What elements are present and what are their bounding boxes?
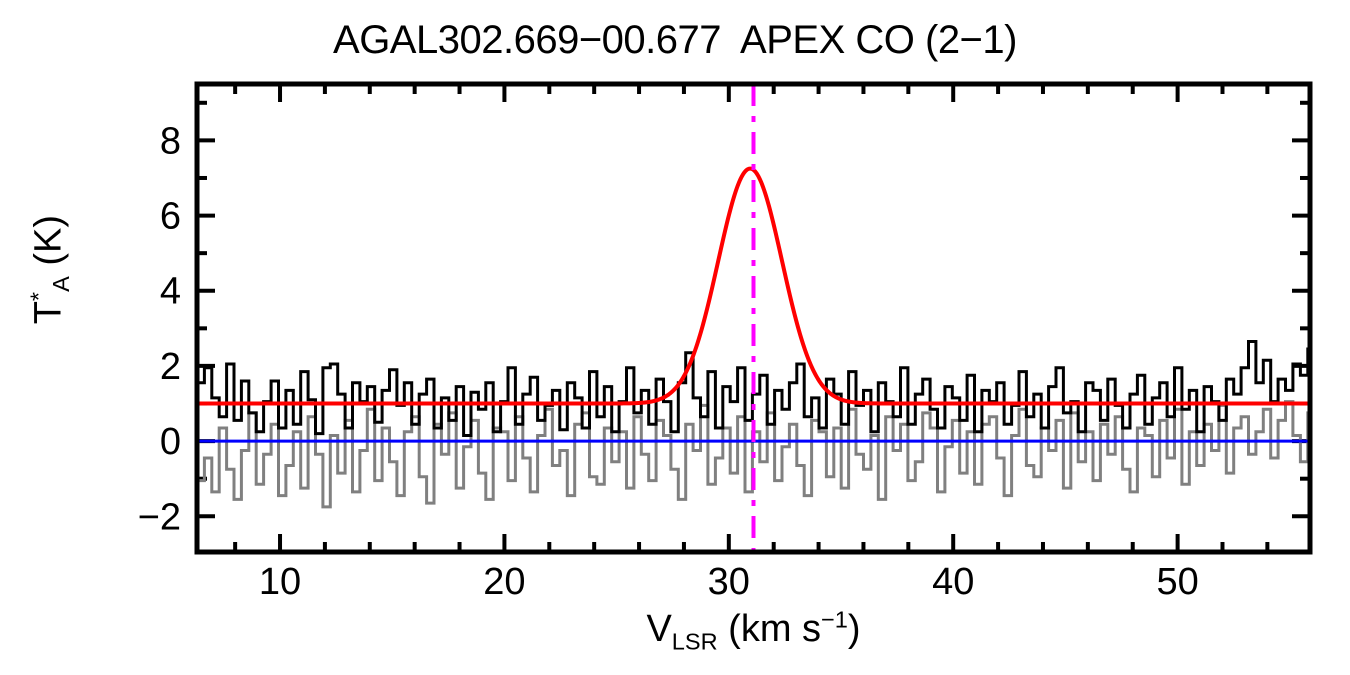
y-tick-label: 4 (160, 271, 181, 313)
y-tick-label: 2 (160, 346, 181, 388)
y-tick-label: 6 (160, 196, 181, 238)
x-tick-label: 10 (259, 561, 301, 603)
y-tick-label: 0 (160, 421, 181, 463)
spectrum-figure: AGAL302.669−00.677 APEX CO (2−1) T*A (K)… (0, 0, 1350, 675)
x-tick-label: 40 (932, 561, 974, 603)
x-tick-label: 50 (1156, 561, 1198, 603)
y-tick-label: 8 (160, 120, 181, 162)
x-tick-label: 30 (708, 561, 750, 603)
y-tick-label: −2 (138, 496, 181, 538)
x-tick-labels: 1020304050 (259, 561, 1199, 603)
y-tick-labels: −202468 (138, 120, 181, 538)
plot-canvas: 1020304050 −202468 (0, 0, 1350, 675)
x-tick-label: 20 (483, 561, 525, 603)
